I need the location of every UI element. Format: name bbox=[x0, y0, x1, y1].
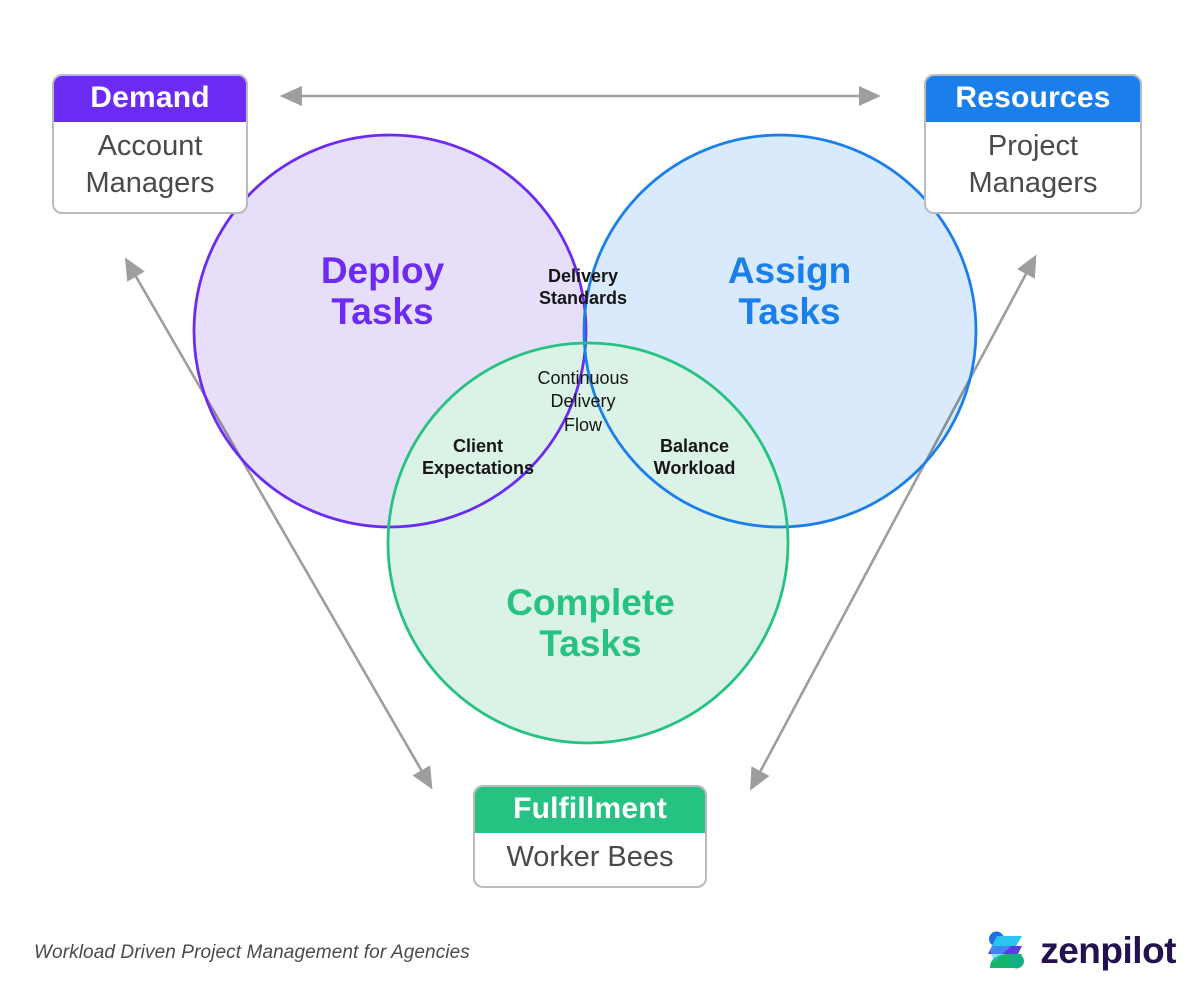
card-resources-body: Project Managers bbox=[926, 122, 1140, 212]
card-fulfillment-body: Worker Bees bbox=[475, 833, 705, 886]
card-demand-header: Demand bbox=[54, 76, 246, 122]
card-resources: Resources Project Managers bbox=[924, 74, 1142, 214]
zenpilot-logo: zenpilot bbox=[984, 928, 1176, 974]
zenpilot-mark-icon bbox=[984, 928, 1030, 974]
card-resources-header: Resources bbox=[926, 76, 1140, 122]
diagram-canvas: Deploy Tasks Assign Tasks Complete Tasks… bbox=[0, 0, 1200, 1000]
footer-caption: Workload Driven Project Management for A… bbox=[34, 942, 470, 964]
card-demand: Demand Account Managers bbox=[52, 74, 248, 214]
card-demand-body: Account Managers bbox=[54, 122, 246, 212]
zenpilot-wordmark: zenpilot bbox=[1040, 930, 1176, 972]
card-fulfillment-header: Fulfillment bbox=[475, 787, 705, 833]
card-fulfillment: Fulfillment Worker Bees bbox=[473, 785, 707, 888]
venn-circle-complete-fill bbox=[388, 343, 788, 743]
